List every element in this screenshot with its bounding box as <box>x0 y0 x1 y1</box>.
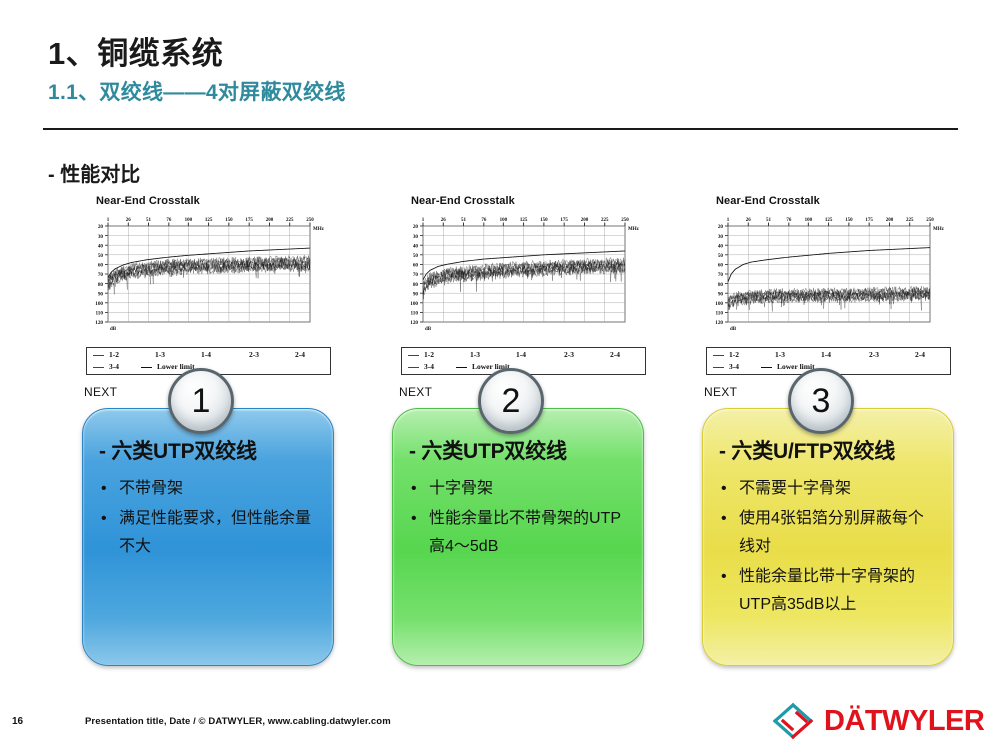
section-label: - 性能对比 <box>48 158 140 187</box>
chart-title-2: Near-End Crosstalk <box>411 195 653 207</box>
svg-text:110: 110 <box>96 311 104 317</box>
svg-text:40: 40 <box>98 243 104 249</box>
svg-text:110: 110 <box>411 311 419 317</box>
next-chart-svg-3: 2030405060708090100110120126517610012515… <box>698 212 958 342</box>
list-item: 十字骨架 <box>407 475 629 503</box>
header-divider <box>43 128 958 130</box>
svg-text:1: 1 <box>422 218 425 223</box>
legend-row-top: 1-2 1-3 1-4 2-3 2-4 <box>91 350 326 362</box>
svg-text:120: 120 <box>95 320 103 326</box>
legend-entry: 2-4 <box>915 350 925 359</box>
list-item: 满足性能要求，但性能余量不大 <box>97 505 319 561</box>
svg-text:50: 50 <box>98 253 104 259</box>
comparison-column-2: Near-End Crosstalk 203040506070809010011… <box>393 195 681 399</box>
page-number: 16 <box>12 716 23 727</box>
info-box-heading: - 六类UTP双绞线 <box>99 435 319 465</box>
info-box-bullets: 不带骨架 满足性能要求，但性能余量不大 <box>97 475 319 561</box>
svg-text:30: 30 <box>718 234 724 240</box>
svg-text:26: 26 <box>126 218 132 223</box>
svg-text:90: 90 <box>98 291 104 297</box>
step-badge-1: 1 <box>168 368 234 434</box>
svg-text:26: 26 <box>441 218 447 223</box>
svg-text:90: 90 <box>413 291 419 297</box>
svg-text:120: 120 <box>715 320 723 326</box>
svg-text:50: 50 <box>718 253 724 259</box>
legend-entry: 3-4 <box>109 362 119 371</box>
svg-text:100: 100 <box>715 301 723 307</box>
svg-text:76: 76 <box>786 218 792 223</box>
chart-block-2: Near-End Crosstalk 203040506070809010011… <box>393 195 653 399</box>
legend-entry: 3-4 <box>729 362 739 371</box>
legend-dash-icon <box>93 355 104 356</box>
svg-text:dB: dB <box>425 327 432 332</box>
svg-text:51: 51 <box>146 218 152 223</box>
svg-text:60: 60 <box>718 263 724 269</box>
svg-text:50: 50 <box>413 253 419 259</box>
svg-text:MHz: MHz <box>933 227 945 232</box>
legend-entry: 2-3 <box>869 350 879 359</box>
legend-entry: 1-2 <box>109 350 119 359</box>
legend-entry: 2-3 <box>249 350 259 359</box>
svg-text:30: 30 <box>98 234 104 240</box>
svg-text:250: 250 <box>306 218 314 223</box>
svg-text:30: 30 <box>413 234 419 240</box>
info-box-heading: - 六类UTP双绞线 <box>409 435 629 465</box>
legend-dash-icon <box>456 367 467 368</box>
legend-entry: 1-2 <box>424 350 434 359</box>
legend-entry: 2-4 <box>610 350 620 359</box>
datwyler-diamond-icon <box>770 700 816 742</box>
legend-entry: 1-4 <box>516 350 526 359</box>
slide-root: 1、铜缆系统 1.1、双绞线——4对屏蔽双绞线 - 性能对比 Near-End … <box>0 0 1000 750</box>
svg-text:150: 150 <box>225 218 233 223</box>
step-badge-number: 2 <box>502 384 521 418</box>
step-badge-3: 3 <box>788 368 854 434</box>
svg-text:MHz: MHz <box>313 227 325 232</box>
comparison-column-1: Near-End Crosstalk 203040506070809010011… <box>78 195 366 399</box>
svg-text:60: 60 <box>98 263 104 269</box>
svg-text:100: 100 <box>410 301 418 307</box>
svg-text:250: 250 <box>621 218 629 223</box>
info-box-heading: - 六类U/FTP双绞线 <box>719 435 939 465</box>
svg-text:76: 76 <box>166 218 172 223</box>
list-item: 性能余量比不带骨架的UTP高4～5dB <box>407 505 629 561</box>
svg-text:225: 225 <box>286 218 294 223</box>
svg-text:26: 26 <box>746 218 752 223</box>
list-item: 不带骨架 <box>97 475 319 503</box>
legend-dash-icon <box>408 355 419 356</box>
svg-text:120: 120 <box>410 320 418 326</box>
svg-text:250: 250 <box>926 218 934 223</box>
svg-text:200: 200 <box>581 218 589 223</box>
info-box-1[interactable]: - 六类UTP双绞线 不带骨架 满足性能要求，但性能余量不大 <box>82 408 334 666</box>
legend-entry: 3-4 <box>424 362 434 371</box>
svg-text:80: 80 <box>718 282 724 288</box>
svg-text:51: 51 <box>461 218 467 223</box>
svg-text:175: 175 <box>865 218 873 223</box>
next-chart-svg-2: 2030405060708090100110120126517610012515… <box>393 212 653 342</box>
svg-text:70: 70 <box>718 272 724 278</box>
page-title: 1、铜缆系统 <box>48 28 223 73</box>
svg-text:dB: dB <box>110 327 117 332</box>
legend-entry: 1-3 <box>470 350 480 359</box>
svg-text:100: 100 <box>95 301 103 307</box>
svg-text:150: 150 <box>540 218 548 223</box>
legend-entry: 1-4 <box>201 350 211 359</box>
legend-dash-icon <box>761 367 772 368</box>
info-box-3[interactable]: - 六类U/FTP双绞线 不需要十字骨架 使用4张铝箔分别屏蔽每个线对 性能余量… <box>702 408 954 666</box>
svg-text:110: 110 <box>716 311 724 317</box>
chart-canvas-1: 2030405060708090100110120126517610012515… <box>78 212 338 342</box>
page-subtitle: 1.1、双绞线——4对屏蔽双绞线 <box>48 76 346 106</box>
svg-text:51: 51 <box>766 218 772 223</box>
svg-text:1: 1 <box>727 218 730 223</box>
legend-row-top: 1-2 1-3 1-4 2-3 2-4 <box>406 350 641 362</box>
svg-text:76: 76 <box>481 218 487 223</box>
info-box-bullets: 十字骨架 性能余量比不带骨架的UTP高4～5dB <box>407 475 629 561</box>
svg-text:dB: dB <box>730 327 737 332</box>
info-box-2[interactable]: - 六类UTP双绞线 十字骨架 性能余量比不带骨架的UTP高4～5dB <box>392 408 644 666</box>
svg-text:125: 125 <box>520 218 528 223</box>
comparison-column-3: Near-End Crosstalk 203040506070809010011… <box>698 195 986 399</box>
legend-dash-icon <box>141 367 152 368</box>
legend-dash-icon <box>408 367 419 368</box>
svg-text:40: 40 <box>718 243 724 249</box>
legend-dash-icon <box>713 367 724 368</box>
svg-text:20: 20 <box>413 224 419 230</box>
list-item: 不需要十字骨架 <box>717 475 939 503</box>
svg-text:80: 80 <box>413 282 419 288</box>
svg-text:80: 80 <box>98 282 104 288</box>
svg-text:200: 200 <box>266 218 274 223</box>
svg-text:150: 150 <box>845 218 853 223</box>
legend-entry: 1-3 <box>775 350 785 359</box>
svg-text:20: 20 <box>98 224 104 230</box>
brand-wordmark: DÄTWYLER <box>824 707 984 736</box>
legend-entry: 1-4 <box>821 350 831 359</box>
svg-text:100: 100 <box>185 218 193 223</box>
svg-text:20: 20 <box>718 224 724 230</box>
info-box-bullets: 不需要十字骨架 使用4张铝箔分别屏蔽每个线对 性能余量比带十字骨架的UTP高35… <box>717 475 939 619</box>
legend-dash-icon <box>713 355 724 356</box>
svg-text:175: 175 <box>245 218 253 223</box>
step-badge-2: 2 <box>478 368 544 434</box>
chart-title-3: Near-End Crosstalk <box>716 195 958 207</box>
legend-row-top: 1-2 1-3 1-4 2-3 2-4 <box>711 350 946 362</box>
svg-text:225: 225 <box>906 218 914 223</box>
footer-text: Presentation title, Date / © DATWYLER, w… <box>85 716 391 727</box>
svg-text:200: 200 <box>886 218 894 223</box>
svg-text:125: 125 <box>825 218 833 223</box>
svg-text:100: 100 <box>805 218 813 223</box>
svg-text:40: 40 <box>413 243 419 249</box>
svg-text:175: 175 <box>560 218 568 223</box>
brand-logo: DÄTWYLER <box>770 700 984 742</box>
chart-title-1: Near-End Crosstalk <box>96 195 338 207</box>
legend-dash-icon <box>93 367 104 368</box>
svg-text:70: 70 <box>98 272 104 278</box>
next-chart-svg-1: 2030405060708090100110120126517610012515… <box>78 212 338 342</box>
legend-entry: 1-3 <box>155 350 165 359</box>
list-item: 性能余量比带十字骨架的UTP高35dB以上 <box>717 563 939 619</box>
svg-text:MHz: MHz <box>628 227 640 232</box>
legend-entry: 2-4 <box>295 350 305 359</box>
step-badge-number: 3 <box>812 384 831 418</box>
svg-text:100: 100 <box>500 218 508 223</box>
chart-canvas-3: 2030405060708090100110120126517610012515… <box>698 212 958 342</box>
legend-entry: 2-3 <box>564 350 574 359</box>
svg-text:70: 70 <box>413 272 419 278</box>
list-item: 使用4张铝箔分别屏蔽每个线对 <box>717 505 939 561</box>
step-badge-number: 1 <box>192 384 211 418</box>
svg-text:60: 60 <box>413 263 419 269</box>
svg-text:225: 225 <box>601 218 609 223</box>
svg-text:125: 125 <box>205 218 213 223</box>
svg-text:90: 90 <box>718 291 724 297</box>
legend-entry: 1-2 <box>729 350 739 359</box>
svg-text:1: 1 <box>107 218 110 223</box>
chart-canvas-2: 2030405060708090100110120126517610012515… <box>393 212 653 342</box>
